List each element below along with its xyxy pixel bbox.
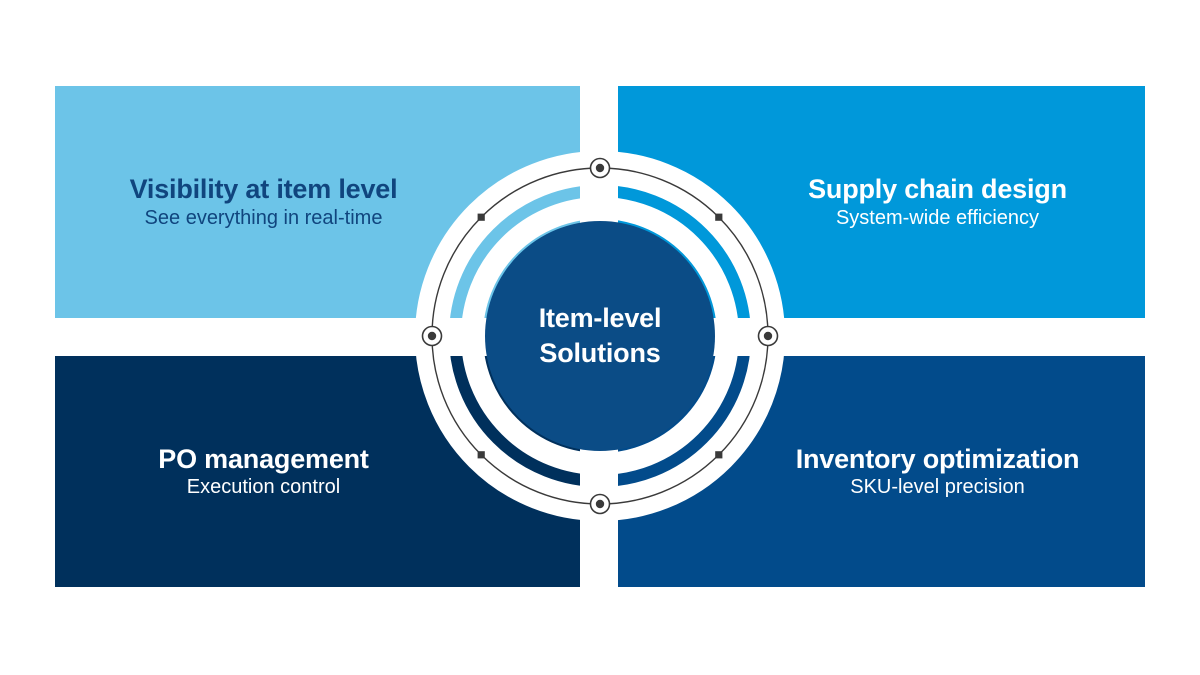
- square-dot-tick-top-right-icon: [715, 214, 722, 221]
- quadrant-subtitle: See everything in real-time: [130, 207, 398, 230]
- quadrant-subtitle: System-wide efficiency: [808, 207, 1067, 230]
- target-dot-node-top-icon[interactable]: [591, 159, 610, 178]
- quadrant-subtitle: Execution control: [158, 476, 368, 499]
- quadrant-title: PO management: [158, 444, 368, 474]
- square-dot-tick-bottom-right-icon: [715, 451, 722, 458]
- square-dot-tick-bottom-left-icon: [478, 451, 485, 458]
- quadrant-text-block: Supply chain design System-wide efficien…: [808, 174, 1067, 229]
- target-dot-node-bottom-icon[interactable]: [591, 495, 610, 514]
- quadrant-text-block: Inventory optimization SKU-level precisi…: [796, 444, 1080, 499]
- hub-rings-graphic: [400, 136, 800, 536]
- quadrant-title: Supply chain design: [808, 174, 1067, 204]
- target-dot-node-left-icon[interactable]: [423, 327, 442, 346]
- diagram-canvas: Visibility at item level See everything …: [0, 0, 1200, 675]
- quadrant-title: Inventory optimization: [796, 444, 1080, 474]
- hub-core-circle: [485, 221, 715, 451]
- quadrant-title: Visibility at item level: [130, 174, 398, 204]
- quadrant-text-block: Visibility at item level See everything …: [130, 174, 398, 229]
- target-dot-node-right-icon[interactable]: [759, 327, 778, 346]
- quadrant-subtitle: SKU-level precision: [796, 476, 1080, 499]
- quadrant-text-block: PO management Execution control: [158, 444, 368, 499]
- square-dot-tick-top-left-icon: [478, 214, 485, 221]
